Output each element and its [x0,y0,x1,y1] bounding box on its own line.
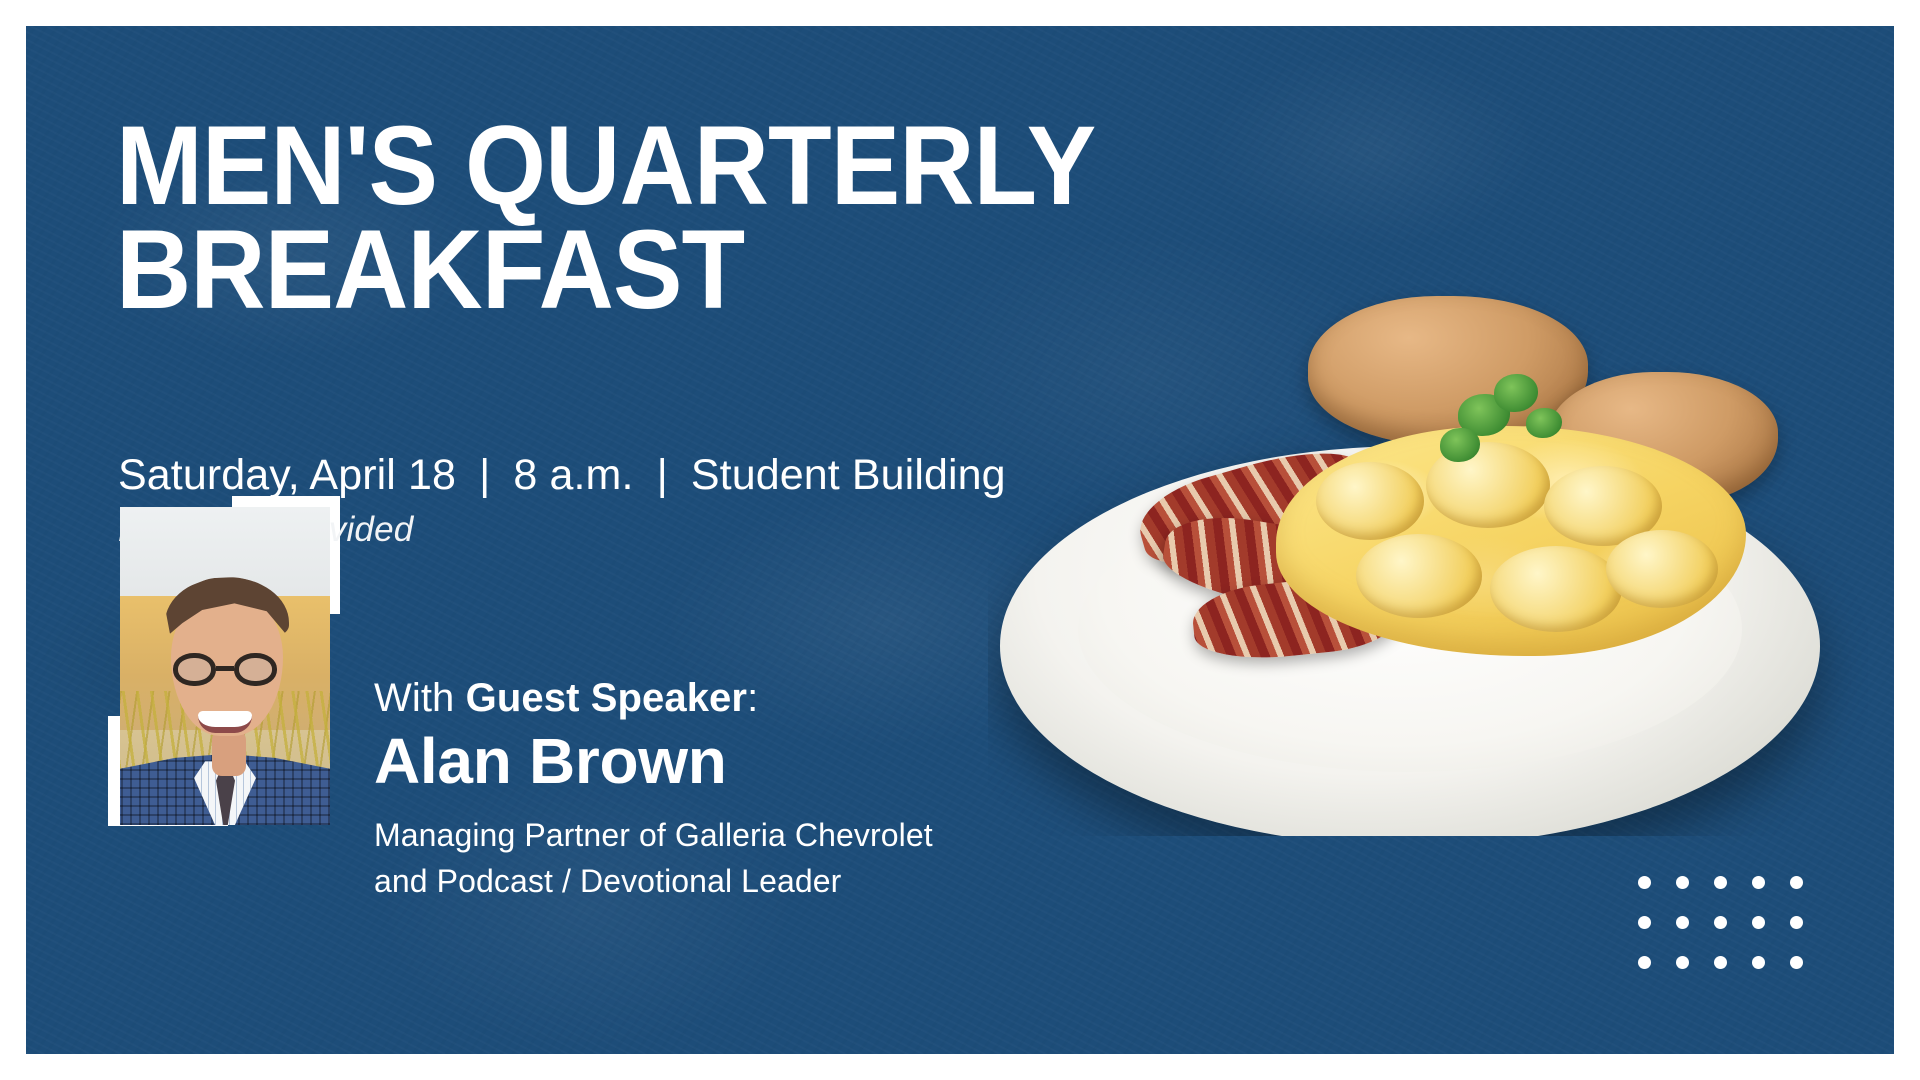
intro-suffix: : [747,676,758,720]
speaker-name: Alan Brown [374,724,727,798]
eyeglasses-icon [173,653,277,686]
flyer-panel: Men's Quarterly Breakfast Saturday, Apri… [26,26,1894,1054]
page-title: Men's Quarterly Breakfast [116,114,1186,322]
dot [1638,916,1651,929]
event-time: 8 a.m. [513,451,633,499]
plate-inner-shape [1078,486,1742,772]
dot [1790,876,1803,889]
dot [1638,956,1651,969]
parsley-garnish [1526,408,1562,438]
dot [1676,956,1689,969]
detail-separator: | [646,451,679,499]
parsley-garnish [1494,374,1538,412]
dot [1752,956,1765,969]
food-photo [988,276,1868,836]
flyer-canvas: Men's Quarterly Breakfast Saturday, Apri… [0,0,1920,1080]
dot-grid-decoration [1638,876,1828,996]
intro-emphasis: Guest Speaker [466,676,747,720]
bacon-strip [1190,570,1407,666]
dot [1714,876,1727,889]
event-location: Student Building [691,451,1006,499]
headline-line-2: Breakfast [116,218,1186,322]
dot [1714,956,1727,969]
plate-shape [1000,446,1820,836]
dot [1638,876,1651,889]
dot [1790,916,1803,929]
scrambled-eggs [1276,426,1746,656]
parsley-garnish [1458,394,1510,436]
biscuit-icon [1548,372,1778,504]
speaker-bio: Managing Partner of Galleria Chevrolet a… [374,812,974,905]
intro-prefix: With [374,676,466,720]
bacon-strip [1131,436,1376,582]
dot [1676,916,1689,929]
dot [1752,916,1765,929]
biscuit-icon [1308,296,1588,446]
event-details: Saturday, April 18 | 8 a.m. | Student Bu… [118,451,1006,500]
dot [1752,876,1765,889]
dot [1790,956,1803,969]
guest-speaker-intro: With Guest Speaker: [374,676,758,721]
dot [1676,876,1689,889]
dot [1714,916,1727,929]
event-date: Saturday, April 18 [118,451,456,499]
speaker-photo [120,507,330,825]
detail-separator: | [468,451,501,499]
parsley-garnish [1440,428,1480,462]
bacon-strip [1158,507,1412,624]
